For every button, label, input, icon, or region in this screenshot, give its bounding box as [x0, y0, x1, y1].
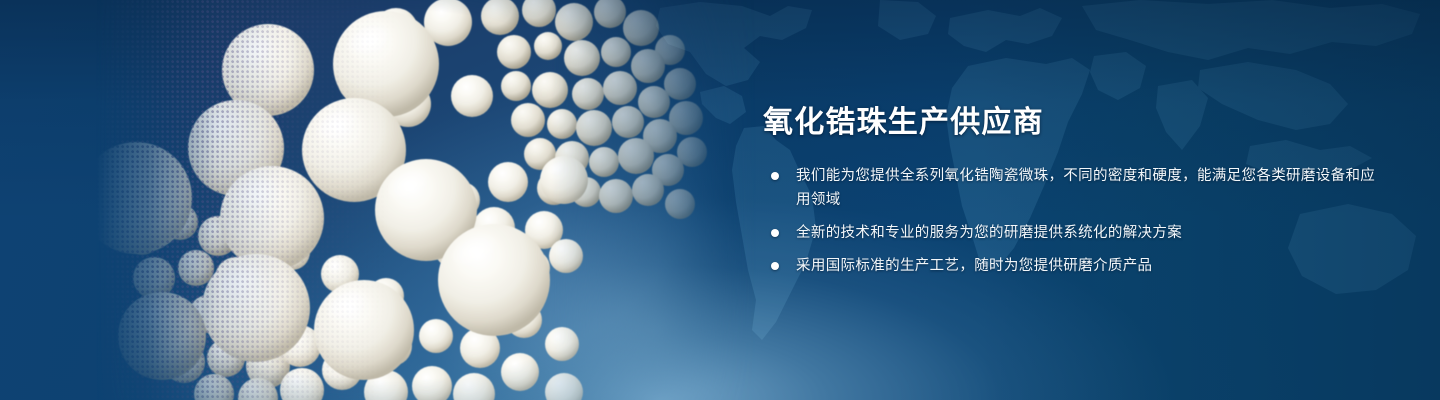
bullet-standards-text: 采用国际标准的生产工艺，随时为您提供研磨介质产品 [796, 254, 1383, 278]
bead-cluster [96, 0, 756, 400]
filled-circle-bullet-icon [771, 262, 779, 270]
filled-circle-bullet-icon [771, 172, 779, 180]
bullet-product-range-text: 我们能为您提供全系列氧化锆陶瓷微珠，不同的密度和硬度，能满足您各类研磨设备和应用… [796, 164, 1383, 212]
hero-banner: 氧化锆珠生产供应商 我们能为您提供全系列氧化锆陶瓷微珠，不同的密度和硬度，能满足… [0, 0, 1440, 400]
banner-headline: 氧化锆珠生产供应商 [763, 104, 1383, 142]
banner-bullet-list: 我们能为您提供全系列氧化锆陶瓷微珠，不同的密度和硬度，能满足您各类研磨设备和应用… [763, 164, 1383, 278]
bullet-product-range: 我们能为您提供全系列氧化锆陶瓷微珠，不同的密度和硬度，能满足您各类研磨设备和应用… [763, 164, 1383, 212]
bullet-technology-service-text: 全新的技术和专业的服务为您的研磨提供系统化的解决方案 [796, 221, 1383, 245]
filled-circle-bullet-icon [771, 229, 779, 237]
bullet-standards: 采用国际标准的生产工艺，随时为您提供研磨介质产品 [763, 254, 1383, 278]
bullet-technology-service: 全新的技术和专业的服务为您的研磨提供系统化的解决方案 [763, 221, 1383, 245]
banner-copy: 氧化锆珠生产供应商 我们能为您提供全系列氧化锆陶瓷微珠，不同的密度和硬度，能满足… [763, 104, 1383, 278]
zirconia-beads-photo [96, 0, 756, 400]
